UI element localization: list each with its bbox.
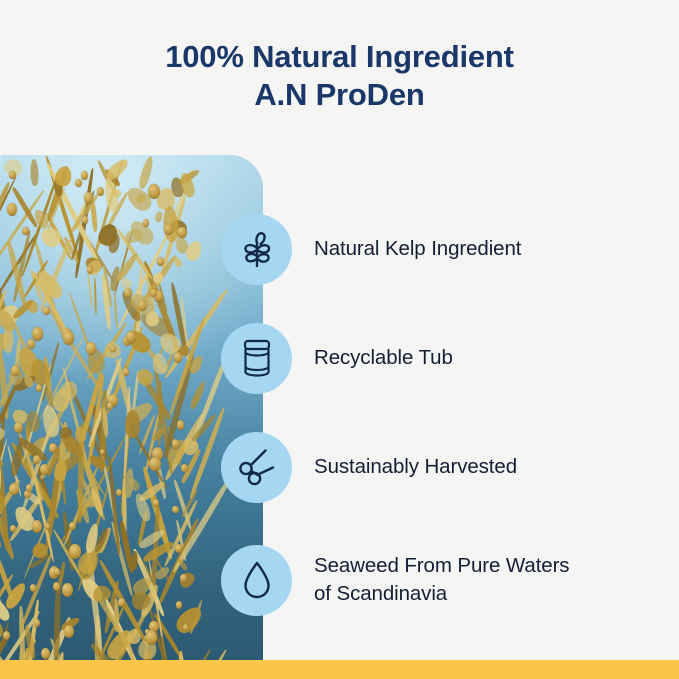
kelp-frond — [53, 164, 73, 187]
kelp-air-bladder — [148, 184, 160, 199]
kelp-air-bladder — [175, 544, 182, 552]
scissors-icon — [221, 432, 292, 503]
kelp-air-bladder — [64, 625, 74, 638]
kelp-air-bladder — [174, 352, 182, 362]
kelp-air-bladder — [49, 443, 57, 453]
kelp-air-bladder — [150, 289, 156, 297]
kelp-air-bladder — [180, 574, 186, 582]
kelp-air-bladder — [10, 525, 15, 531]
kelp-air-bladder — [176, 601, 182, 608]
kelp-air-bladder — [9, 483, 18, 495]
page-title: 100% Natural Ingredient A.N ProDen — [0, 38, 679, 114]
water-drop-icon — [221, 545, 292, 616]
kelp-air-bladder — [146, 630, 157, 644]
kelp-air-bladder — [126, 331, 136, 343]
kelp-air-bladder — [81, 171, 88, 179]
kelp-air-bladder — [75, 179, 82, 187]
feature-row-natural-kelp-ingredient[interactable]: Natural Kelp Ingredient — [221, 213, 661, 285]
product-feature-infographic: 100% Natural Ingredient A.N ProDen Natur… — [0, 0, 679, 679]
kelp-air-bladder — [124, 288, 132, 298]
kelp-seaweed-illustration — [0, 155, 250, 660]
kelp-frond — [154, 211, 163, 224]
kelp-air-bladder — [69, 544, 81, 558]
kelp-air-bladder — [123, 368, 129, 376]
kelp-air-bladder — [164, 224, 172, 235]
kelp-air-bladder — [181, 464, 187, 472]
kelp-frond — [30, 159, 39, 186]
kelp-frond — [125, 410, 140, 438]
kelp-air-bladder — [27, 339, 35, 350]
kelp-frond — [114, 293, 119, 330]
kelp-air-bladder — [34, 619, 40, 626]
kelp-air-bladder — [116, 489, 122, 496]
kelp-air-bladder — [84, 192, 93, 203]
feature-label: Natural Kelp Ingredient — [314, 235, 521, 263]
kelp-air-bladder — [82, 216, 88, 224]
feature-label: Recyclable Tub — [314, 344, 453, 372]
kelp-air-bladder — [40, 464, 48, 475]
kelp-air-bladder — [149, 457, 160, 471]
feature-label: Sustainably Harvested — [314, 453, 517, 481]
kelp-air-bladder — [110, 346, 115, 352]
kelp-air-bladder — [3, 631, 10, 640]
kelp-air-bladder — [14, 422, 23, 433]
kelp-air-bladder — [32, 520, 42, 533]
page-title-line-2: A.N ProDen — [0, 76, 679, 114]
kelp-frond — [87, 271, 93, 308]
kelp-air-bladder — [87, 266, 93, 274]
kelp-air-bladder — [43, 307, 49, 315]
kelp-air-bladder — [32, 327, 43, 341]
kelp-air-bladder — [177, 420, 184, 429]
kelp-air-bladder — [69, 522, 75, 530]
kelp-frond — [173, 255, 183, 267]
kelp-air-bladder — [62, 583, 73, 597]
feature-row-recyclable-tub[interactable]: Recyclable Tub — [221, 322, 661, 394]
kelp-frond — [26, 411, 40, 432]
feature-row-sustainably-harvested[interactable]: Sustainably Harvested — [221, 431, 661, 503]
kelp-air-bladder — [177, 227, 186, 238]
feature-row-pure-waters[interactable]: Seaweed From Pure Waters of Scandinavia — [221, 544, 661, 616]
kelp-frond — [178, 651, 185, 660]
kelp-air-bladder — [7, 203, 17, 216]
kelp-air-bladder — [107, 402, 113, 410]
kelp-air-bladder — [36, 384, 42, 391]
kelp-frond — [53, 582, 61, 660]
kelp-air-bladder — [41, 648, 50, 660]
kelp-frond — [94, 277, 97, 315]
kelp-air-bladder — [172, 506, 178, 514]
kelp-leaf-icon — [221, 214, 292, 285]
kelp-air-bladder — [183, 624, 188, 631]
page-title-line-1: 100% Natural Ingredient — [0, 38, 679, 76]
kelp-air-bladder — [143, 219, 149, 227]
bottom-accent-bar — [0, 660, 679, 679]
feature-label: Seaweed From Pure Waters of Scandinavia — [314, 552, 569, 608]
kelp-air-bladder — [97, 187, 104, 196]
tub-icon — [221, 323, 292, 394]
kelp-frond — [127, 629, 141, 645]
